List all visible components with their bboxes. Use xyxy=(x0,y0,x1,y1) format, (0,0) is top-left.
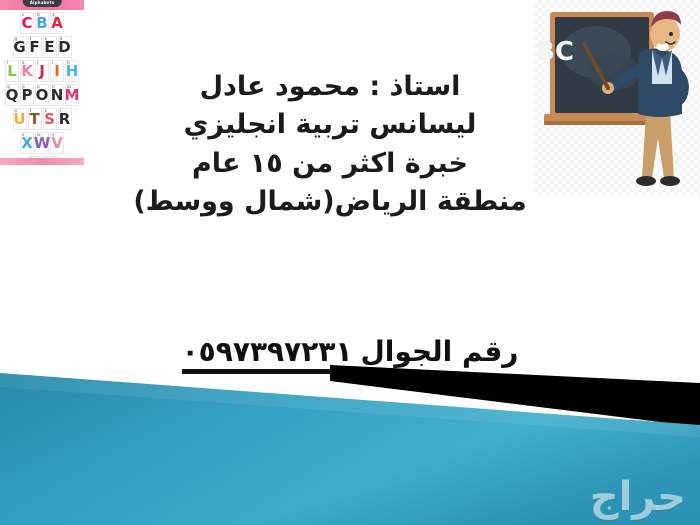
alphabet-lowercase: j xyxy=(37,61,38,65)
alphabet-cell-s: sS xyxy=(43,108,57,130)
alphabet-uppercase: U xyxy=(13,112,25,127)
alphabet-lowercase: r xyxy=(60,109,62,113)
alphabet-uppercase: T xyxy=(29,112,39,127)
alphabet-lowercase: m xyxy=(67,85,71,89)
alphabet-row: vVwWxX xyxy=(2,132,82,154)
teacher-eye xyxy=(669,32,673,36)
alphabet-cell-n: nN xyxy=(50,84,64,106)
alphabet-uppercase: V xyxy=(51,136,63,151)
alphabet-cell-p: pP xyxy=(20,84,34,106)
chalkboard-abc-text: ABC xyxy=(534,37,574,67)
alphabet-lowercase: s xyxy=(45,109,47,113)
phone-label: رقم الجوال xyxy=(361,335,519,368)
alphabet-row: mMnNoOpPqQ xyxy=(2,84,82,106)
alphabet-uppercase: M xyxy=(65,88,80,103)
alphabet-cell-i: iI xyxy=(50,60,64,82)
chalkboard-ledge-shadow xyxy=(544,121,656,125)
alphabet-cell-m: mM xyxy=(65,84,79,106)
alphabet-uppercase: P xyxy=(22,88,33,103)
alphabet-lowercase: p xyxy=(22,85,25,89)
alphabet-grid: aAbBcCdDeEfFgGhHiIjJkKlLmMnNoOpPqQrRsStT… xyxy=(2,12,82,165)
alphabet-uppercase: D xyxy=(58,40,70,55)
alphabet-uppercase: R xyxy=(59,112,71,127)
alphabet-uppercase: G xyxy=(13,40,25,55)
poster-bottom-bar xyxy=(0,158,84,165)
alphabet-uppercase: H xyxy=(66,64,79,79)
headline-line-4: منطقة الرياض(شمال ووسط) xyxy=(120,183,540,221)
alphabet-row: rRsStTuU xyxy=(2,108,82,130)
alphabet-uppercase: X xyxy=(21,136,33,151)
alphabet-uppercase: N xyxy=(51,88,64,103)
alphabet-row: hHiIjJkKlL xyxy=(2,60,82,82)
bottom-banner: حراج xyxy=(0,365,700,525)
alphabet-uppercase: J xyxy=(39,64,45,79)
alphabet-lowercase: v xyxy=(52,133,55,137)
alphabet-uppercase: L xyxy=(7,64,17,79)
alphabet-cell-g: gG xyxy=(13,36,27,58)
headline-line-2: ليسانس تربية انجليزي xyxy=(120,106,540,144)
alphabet-row: dDeEfFgG xyxy=(2,36,82,58)
teacher-chalkboard-graphic: ABC xyxy=(534,0,700,196)
contact-line: رقم الجوال٠٥٩٧٣٩٧٢٣١ xyxy=(182,334,519,369)
alphabet-cell-t: tT xyxy=(28,108,42,130)
ad-image-canvas: Alphabets aAbBcCdDeEfFgGhHiIjJkKlLmMnNoO… xyxy=(0,0,700,525)
alphabet-cell-k: kK xyxy=(20,60,34,82)
alphabet-lowercase: t xyxy=(30,109,32,113)
alphabet-lowercase: g xyxy=(15,37,18,41)
alphabet-lowercase: d xyxy=(60,37,63,41)
alphabet-uppercase: F xyxy=(29,40,39,55)
alphabet-cell-r: rR xyxy=(58,108,72,130)
alphabet-cell-e: eE xyxy=(43,36,57,58)
headline-line-1: استاذ : محمود عادل xyxy=(120,68,540,106)
alphabet-uppercase: Q xyxy=(6,88,19,103)
alphabet-uppercase: O xyxy=(36,88,49,103)
alphabet-lowercase: n xyxy=(52,85,55,89)
alphabet-lowercase: k xyxy=(22,61,25,65)
alphabet-cell-x: xX xyxy=(20,132,34,154)
alphabet-cell-q: qQ xyxy=(5,84,19,106)
alphabet-lowercase: c xyxy=(22,13,24,17)
alphabet-cell-w: wW xyxy=(35,132,49,154)
alphabet-lowercase: f xyxy=(30,37,32,41)
alphabet-uppercase: A xyxy=(51,16,63,31)
headline-text-block: استاذ : محمود عادل ليسانس تربية انجليزي … xyxy=(120,68,540,221)
haraj-watermark: حراج xyxy=(590,477,686,517)
alphabet-cell-b: bB xyxy=(35,12,49,34)
alphabet-cell-a: aA xyxy=(50,12,64,34)
alphabet-lowercase: h xyxy=(67,61,70,65)
teacher-shoe-left xyxy=(636,176,656,186)
alphabet-cell-l: lL xyxy=(5,60,19,82)
alphabet-cell-h: hH xyxy=(65,60,79,82)
alphabet-poster: Alphabets aAbBcCdDeEfFgGhHiIjJkKlLmMnNoO… xyxy=(0,0,84,165)
alphabet-uppercase: S xyxy=(44,112,55,127)
alphabet-uppercase: E xyxy=(44,40,54,55)
contact-block: رقم الجوال٠٥٩٧٣٩٧٢٣١ xyxy=(120,334,580,369)
alphabet-lowercase: o xyxy=(37,85,40,89)
alphabet-lowercase: l xyxy=(7,61,8,65)
headline-line-3: خبرة اكثر من ١٥ عام xyxy=(120,145,540,183)
alphabet-cell-u: uU xyxy=(13,108,27,130)
alphabet-lowercase: q xyxy=(7,85,10,89)
alphabet-cell-j: jJ xyxy=(35,60,49,82)
alphabet-lowercase: b xyxy=(37,13,40,17)
alphabet-cell-d: dD xyxy=(58,36,72,58)
alphabet-lowercase: e xyxy=(45,37,48,41)
alphabet-lowercase: u xyxy=(15,109,18,113)
teacher-legs xyxy=(642,112,674,178)
alphabet-lowercase: w xyxy=(37,133,41,137)
alphabet-uppercase: W xyxy=(34,136,51,151)
teacher-illustration: ABC xyxy=(534,0,700,196)
alphabet-row: aAbBcC xyxy=(2,12,82,34)
alphabet-lowercase: a xyxy=(52,13,55,17)
alphabet-uppercase: C xyxy=(22,16,33,31)
teacher-shoe-right xyxy=(660,176,680,186)
alphabet-uppercase: B xyxy=(36,16,47,31)
alphabet-lowercase: x xyxy=(22,133,25,137)
alphabet-cell-v: vV xyxy=(50,132,64,154)
alphabet-uppercase: K xyxy=(21,64,33,79)
alphabet-cell-f: fF xyxy=(28,36,42,58)
poster-title: Alphabets xyxy=(23,0,62,7)
alphabet-lowercase: i xyxy=(52,61,53,65)
alphabet-cell-o: oO xyxy=(35,84,49,106)
alphabet-cell-c: cC xyxy=(20,12,34,34)
alphabet-uppercase: I xyxy=(54,64,60,79)
